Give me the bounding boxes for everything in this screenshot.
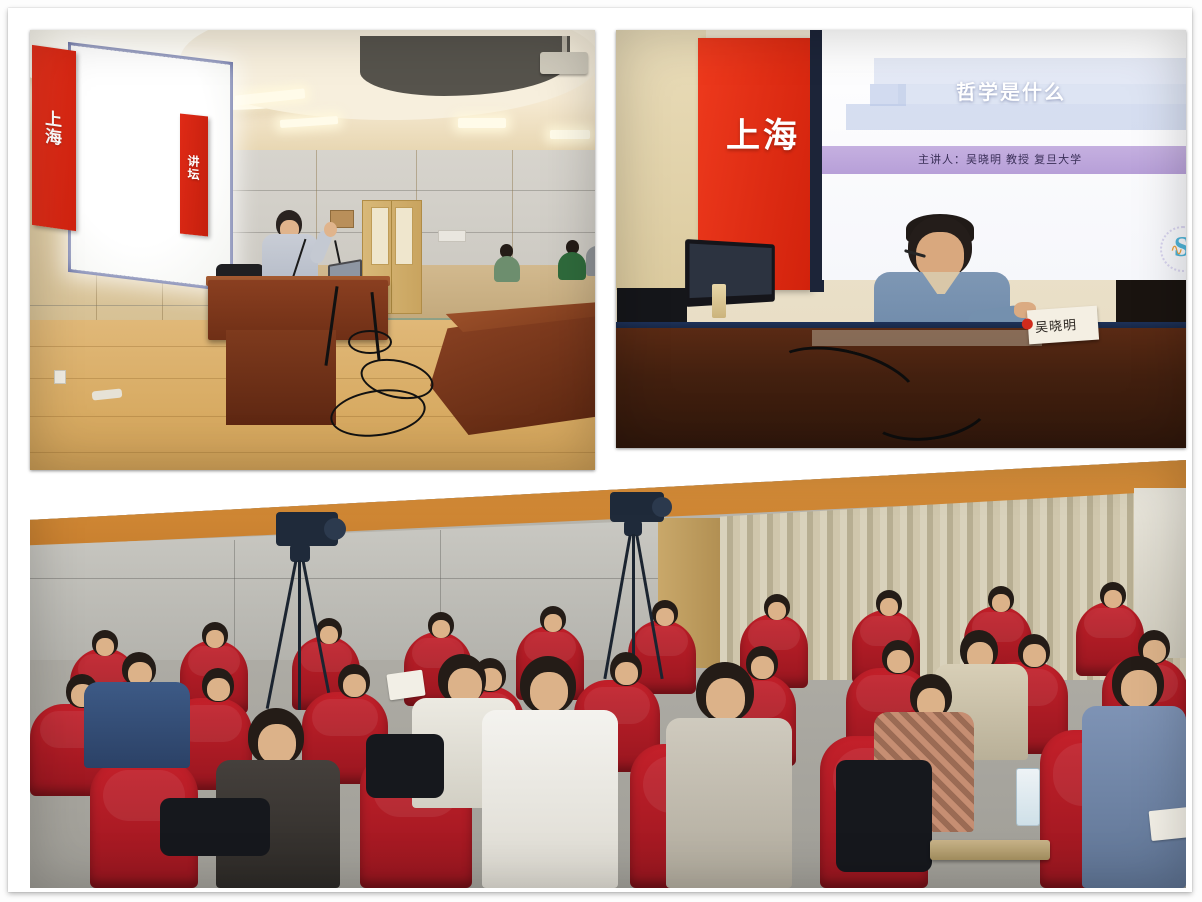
collage-page: 上海 讲坛 bbox=[0, 0, 1202, 902]
door-glass-right bbox=[395, 207, 413, 265]
hall-scene: 上海 讲坛 bbox=[30, 30, 595, 470]
audience-jacket-right bbox=[836, 760, 932, 872]
audience-notes-left bbox=[386, 670, 425, 701]
audience-face bbox=[992, 594, 1010, 612]
name-card-badge bbox=[1021, 318, 1033, 330]
audience-face bbox=[258, 724, 296, 764]
audience-face bbox=[544, 614, 562, 632]
audience-torso-c bbox=[586, 246, 595, 276]
desk-cup bbox=[712, 284, 726, 318]
audience-face bbox=[1023, 644, 1046, 667]
photo-audience-seating-view[interactable] bbox=[30, 460, 1186, 888]
wall-sign-plate bbox=[438, 230, 466, 242]
audience-face bbox=[1121, 670, 1157, 708]
projection-screen: 哲学是什么 主讲人：吴晓明 教授 复旦大学 ∿ S bbox=[822, 30, 1186, 280]
audience-bag-left bbox=[160, 798, 270, 856]
camera-lens bbox=[652, 497, 672, 517]
photo-lecture-hall-wide-view[interactable]: 上海 讲坛 bbox=[30, 30, 595, 470]
audience-jacket-mid bbox=[366, 734, 444, 798]
desk-paper-stack bbox=[812, 330, 1042, 346]
audience-face bbox=[706, 678, 745, 720]
audience-scene bbox=[30, 460, 1186, 888]
audience-face bbox=[880, 598, 898, 616]
audience-torso bbox=[482, 710, 618, 888]
confidence-monitor-screen bbox=[690, 244, 772, 298]
red-banner-text: 上海 bbox=[726, 108, 800, 157]
audience-face bbox=[615, 662, 638, 685]
camera-lens bbox=[324, 518, 346, 540]
floor-cable-loop-1 bbox=[348, 330, 392, 354]
red-banner-middle-text: 讲坛 bbox=[185, 154, 202, 182]
name-card: 吴晓明 bbox=[1027, 306, 1099, 345]
ceiling-projector bbox=[540, 52, 588, 74]
audience-face bbox=[432, 620, 450, 638]
audience-face bbox=[887, 650, 910, 673]
institution-logo: ∿ S bbox=[1160, 226, 1186, 272]
speaker-scene: 上海 哲学是什么 主讲人：吴晓明 教授 复旦大学 bbox=[616, 30, 1186, 448]
audience-face bbox=[96, 638, 114, 656]
slide-subtitle-band: 主讲人：吴晓明 教授 复旦大学 bbox=[822, 146, 1186, 174]
photo-mount: 上海 讲坛 bbox=[8, 8, 1192, 892]
ceiling-light-4 bbox=[550, 130, 590, 139]
audience-face bbox=[343, 674, 366, 697]
audience-torso-b bbox=[558, 252, 586, 280]
red-banner-left: 上海 bbox=[32, 45, 76, 231]
audience-face bbox=[530, 672, 568, 712]
logo-letter: S bbox=[1174, 232, 1186, 264]
red-banner-left-text: 上海 bbox=[39, 108, 64, 148]
red-banner-middle: 讲坛 bbox=[180, 114, 208, 237]
confidence-monitor bbox=[685, 239, 775, 307]
slide-band-3 bbox=[846, 104, 1186, 130]
audience-face bbox=[206, 630, 224, 648]
speaker-hand bbox=[324, 222, 337, 237]
audience-face bbox=[207, 678, 230, 701]
audience-torso bbox=[84, 682, 190, 768]
slide-title-text: 哲学是什么 bbox=[956, 76, 1066, 105]
folding-desk-tray bbox=[930, 840, 1050, 860]
name-card-text: 吴晓明 bbox=[1034, 314, 1077, 336]
audience-notes-right bbox=[1149, 805, 1186, 841]
door-center-split bbox=[391, 201, 392, 313]
audience-torso bbox=[666, 718, 792, 888]
water-bottle bbox=[1016, 768, 1040, 826]
wall-outlet bbox=[54, 370, 66, 384]
projection-screen-frame bbox=[68, 42, 233, 292]
audience-face bbox=[768, 602, 786, 620]
speaker-desk-pedestal bbox=[226, 330, 336, 425]
audience-face bbox=[1104, 590, 1122, 608]
audience-torso bbox=[1082, 706, 1186, 888]
door-glass-left bbox=[371, 207, 389, 265]
slide-subtitle-text: 主讲人：吴晓明 教授 复旦大学 bbox=[918, 151, 1082, 167]
ceiling-light-3 bbox=[458, 118, 506, 128]
video-camera-rig-right bbox=[600, 488, 680, 678]
audience-torso-a bbox=[494, 256, 520, 282]
photo-speaker-closeup[interactable]: 上海 哲学是什么 主讲人：吴晓明 教授 复旦大学 bbox=[616, 30, 1186, 448]
audience-face bbox=[751, 656, 774, 679]
video-camera-rig-left bbox=[260, 506, 350, 706]
